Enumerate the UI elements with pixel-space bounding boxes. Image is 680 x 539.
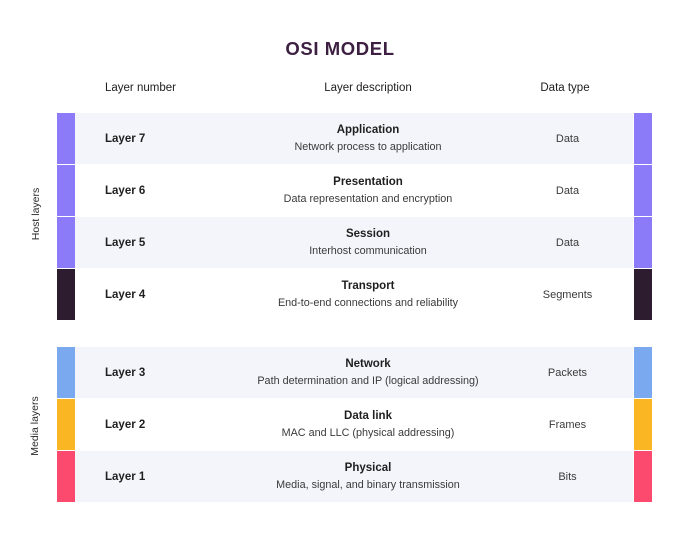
osi-model-diagram: OSI MODEL Layer number Layer description… [0,0,680,539]
layer-color-bar-right [634,347,652,398]
layer-name-text: Data link [344,408,392,424]
layer-color-bar-left [57,347,75,398]
layer-subtitle-text: MAC and LLC (physical addressing) [282,425,455,441]
layer-subtitle-text: Network process to application [294,139,441,155]
layer-color-bar-left [57,269,75,320]
layer-color-bar-right [634,217,652,268]
layer-name-text: Transport [341,278,394,294]
data-type-text: Data [556,133,579,145]
layer-number-cell: Layer 2 [105,399,235,450]
layer-color-bar-right [634,113,652,164]
data-type-text: Packets [548,367,587,379]
layer-description-cell: TransportEnd-to-end connections and reli… [235,269,501,320]
layer-number-cell: Layer 5 [105,217,235,268]
layer-number-text: Layer 2 [105,419,145,431]
layer-number-cell: Layer 3 [105,347,235,398]
layer-number-text: Layer 6 [105,185,145,197]
layer-description-cell: Data linkMAC and LLC (physical addressin… [235,399,501,450]
layer-description-cell: SessionInterhost communication [235,217,501,268]
data-type-cell: Segments [501,269,634,320]
layer-number-text: Layer 4 [105,289,145,301]
layer-number-cell: Layer 6 [105,165,235,216]
layer-row[interactable]: Layer 6PresentationData representation a… [57,165,655,216]
layer-color-bar-right [634,399,652,450]
layer-row[interactable]: Layer 4TransportEnd-to-end connections a… [57,269,655,320]
layer-row[interactable]: Layer 2Data linkMAC and LLC (physical ad… [57,399,655,450]
layer-number-cell: Layer 1 [105,451,235,502]
layer-number-text: Layer 1 [105,471,145,483]
layer-row[interactable]: Layer 5SessionInterhost communicationDat… [57,217,655,268]
layer-row[interactable]: Layer 1PhysicalMedia, signal, and binary… [57,451,655,502]
layer-color-bar-right [634,451,652,502]
layer-color-bar-left [57,165,75,216]
layer-name-text: Presentation [333,174,403,190]
layer-row[interactable]: Layer 3NetworkPath determination and IP … [57,347,655,398]
layer-color-bar-left [57,451,75,502]
layer-subtitle-text: End-to-end connections and reliability [278,295,458,311]
data-type-text: Bits [558,471,576,483]
layer-number-text: Layer 3 [105,367,145,379]
data-type-cell: Packets [501,347,634,398]
layer-name-text: Session [346,226,390,242]
data-type-text: Frames [549,419,586,431]
layer-color-bar-right [634,165,652,216]
layer-color-bar-left [57,217,75,268]
layer-color-bar-left [57,399,75,450]
layer-rows-container: Layer 7ApplicationNetwork process to app… [0,0,680,539]
layer-description-cell: NetworkPath determination and IP (logica… [235,347,501,398]
layer-row[interactable]: Layer 7ApplicationNetwork process to app… [57,113,655,164]
data-type-cell: Data [501,217,634,268]
layer-name-text: Application [337,122,400,138]
layer-name-text: Physical [345,460,392,476]
layer-number-cell: Layer 4 [105,269,235,320]
layer-description-cell: ApplicationNetwork process to applicatio… [235,113,501,164]
layer-number-cell: Layer 7 [105,113,235,164]
data-type-text: Data [556,185,579,197]
layer-description-cell: PhysicalMedia, signal, and binary transm… [235,451,501,502]
layer-subtitle-text: Interhost communication [309,243,427,259]
data-type-cell: Frames [501,399,634,450]
layer-color-bar-left [57,113,75,164]
layer-subtitle-text: Path determination and IP (logical addre… [257,373,478,389]
layer-description-cell: PresentationData representation and encr… [235,165,501,216]
data-type-cell: Bits [501,451,634,502]
data-type-cell: Data [501,165,634,216]
layer-number-text: Layer 5 [105,237,145,249]
data-type-cell: Data [501,113,634,164]
layer-subtitle-text: Data representation and encryption [284,191,453,207]
layer-number-text: Layer 7 [105,133,145,145]
layer-color-bar-right [634,269,652,320]
data-type-text: Segments [543,289,593,301]
data-type-text: Data [556,237,579,249]
layer-subtitle-text: Media, signal, and binary transmission [276,477,460,493]
layer-name-text: Network [345,356,390,372]
